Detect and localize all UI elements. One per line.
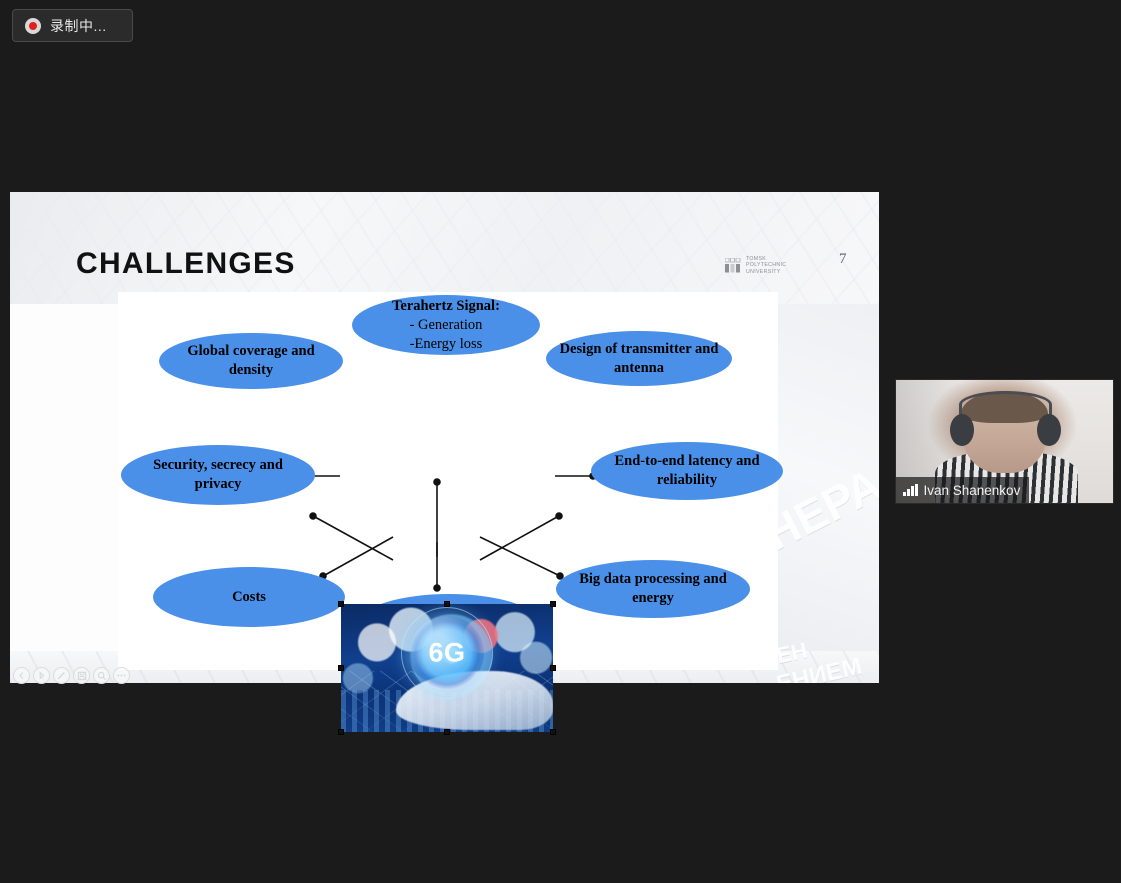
node-big-data-label: Big data processing and energy bbox=[566, 570, 740, 608]
slide-float-toolbar[interactable] bbox=[10, 665, 133, 686]
annotate-pen-button[interactable] bbox=[53, 667, 70, 684]
node-costs[interactable]: Costs bbox=[153, 567, 345, 627]
selection-handle-se[interactable] bbox=[550, 729, 556, 735]
node-security-secrecy-label: Security, secrecy and privacy bbox=[131, 456, 305, 494]
participant-name-bar: Ivan Shanenkov bbox=[896, 477, 1029, 503]
center-image-6g-label: 6G bbox=[428, 637, 465, 668]
node-terahertz-signal[interactable]: Terahertz Signal: - Generation -Energy l… bbox=[352, 295, 540, 355]
center-6g-image[interactable]: 6G bbox=[341, 604, 553, 732]
node-design-transmitter[interactable]: Design of transmitter and antenna bbox=[546, 331, 732, 386]
node-end-to-end-latency-label: End-to-end latency and reliability bbox=[601, 452, 773, 490]
node-costs-label: Costs bbox=[232, 588, 266, 607]
record-dot-icon bbox=[25, 18, 41, 34]
node-design-transmitter-label: Design of transmitter and antenna bbox=[556, 340, 722, 378]
magnifier-icon bbox=[97, 671, 107, 681]
node-big-data[interactable]: Big data processing and energy bbox=[556, 560, 750, 618]
participant-name: Ivan Shanenkov bbox=[924, 483, 1021, 498]
selection-handle-sw[interactable] bbox=[338, 729, 344, 735]
audio-level-bars-icon bbox=[903, 484, 918, 496]
node-terahertz-line2: - Generation bbox=[392, 316, 500, 335]
recording-indicator[interactable]: 录制中... bbox=[12, 9, 133, 42]
save-icon bbox=[77, 671, 87, 681]
ellipsis-icon bbox=[116, 673, 127, 678]
save-button[interactable] bbox=[73, 667, 90, 684]
recording-label: 录制中... bbox=[50, 16, 107, 36]
screen-root: 录制中... НЕРА НЕН ЕНИЕМ CHALLENGES TOMSKPO… bbox=[0, 0, 1121, 883]
node-global-coverage-label: Global coverage and density bbox=[169, 342, 333, 380]
next-slide-button[interactable] bbox=[33, 667, 50, 684]
challenges-diagram: Terahertz Signal: - Generation -Energy l… bbox=[10, 192, 879, 683]
headphone-band bbox=[959, 391, 1052, 418]
participant-video-tile[interactable]: Ivan Shanenkov bbox=[895, 379, 1114, 504]
selection-handle-nw[interactable] bbox=[338, 601, 344, 607]
node-global-coverage[interactable]: Global coverage and density bbox=[159, 333, 343, 389]
more-options-button[interactable] bbox=[113, 667, 130, 684]
previous-slide-button[interactable] bbox=[13, 667, 30, 684]
zoom-button[interactable] bbox=[93, 667, 110, 684]
selection-handle-ne[interactable] bbox=[550, 601, 556, 607]
node-terahertz-line3: -Energy loss bbox=[392, 335, 500, 354]
selection-handle-w[interactable] bbox=[338, 665, 344, 671]
selection-handle-s[interactable] bbox=[444, 729, 450, 735]
play-triangle-icon bbox=[37, 671, 46, 680]
selection-handle-n[interactable] bbox=[444, 601, 450, 607]
pen-icon bbox=[56, 670, 67, 681]
node-security-secrecy[interactable]: Security, secrecy and privacy bbox=[121, 445, 315, 505]
node-terahertz-title: Terahertz Signal: bbox=[392, 298, 500, 314]
node-end-to-end-latency[interactable]: End-to-end latency and reliability bbox=[591, 442, 783, 500]
selection-handle-e[interactable] bbox=[550, 665, 556, 671]
chevron-left-icon bbox=[17, 671, 26, 680]
